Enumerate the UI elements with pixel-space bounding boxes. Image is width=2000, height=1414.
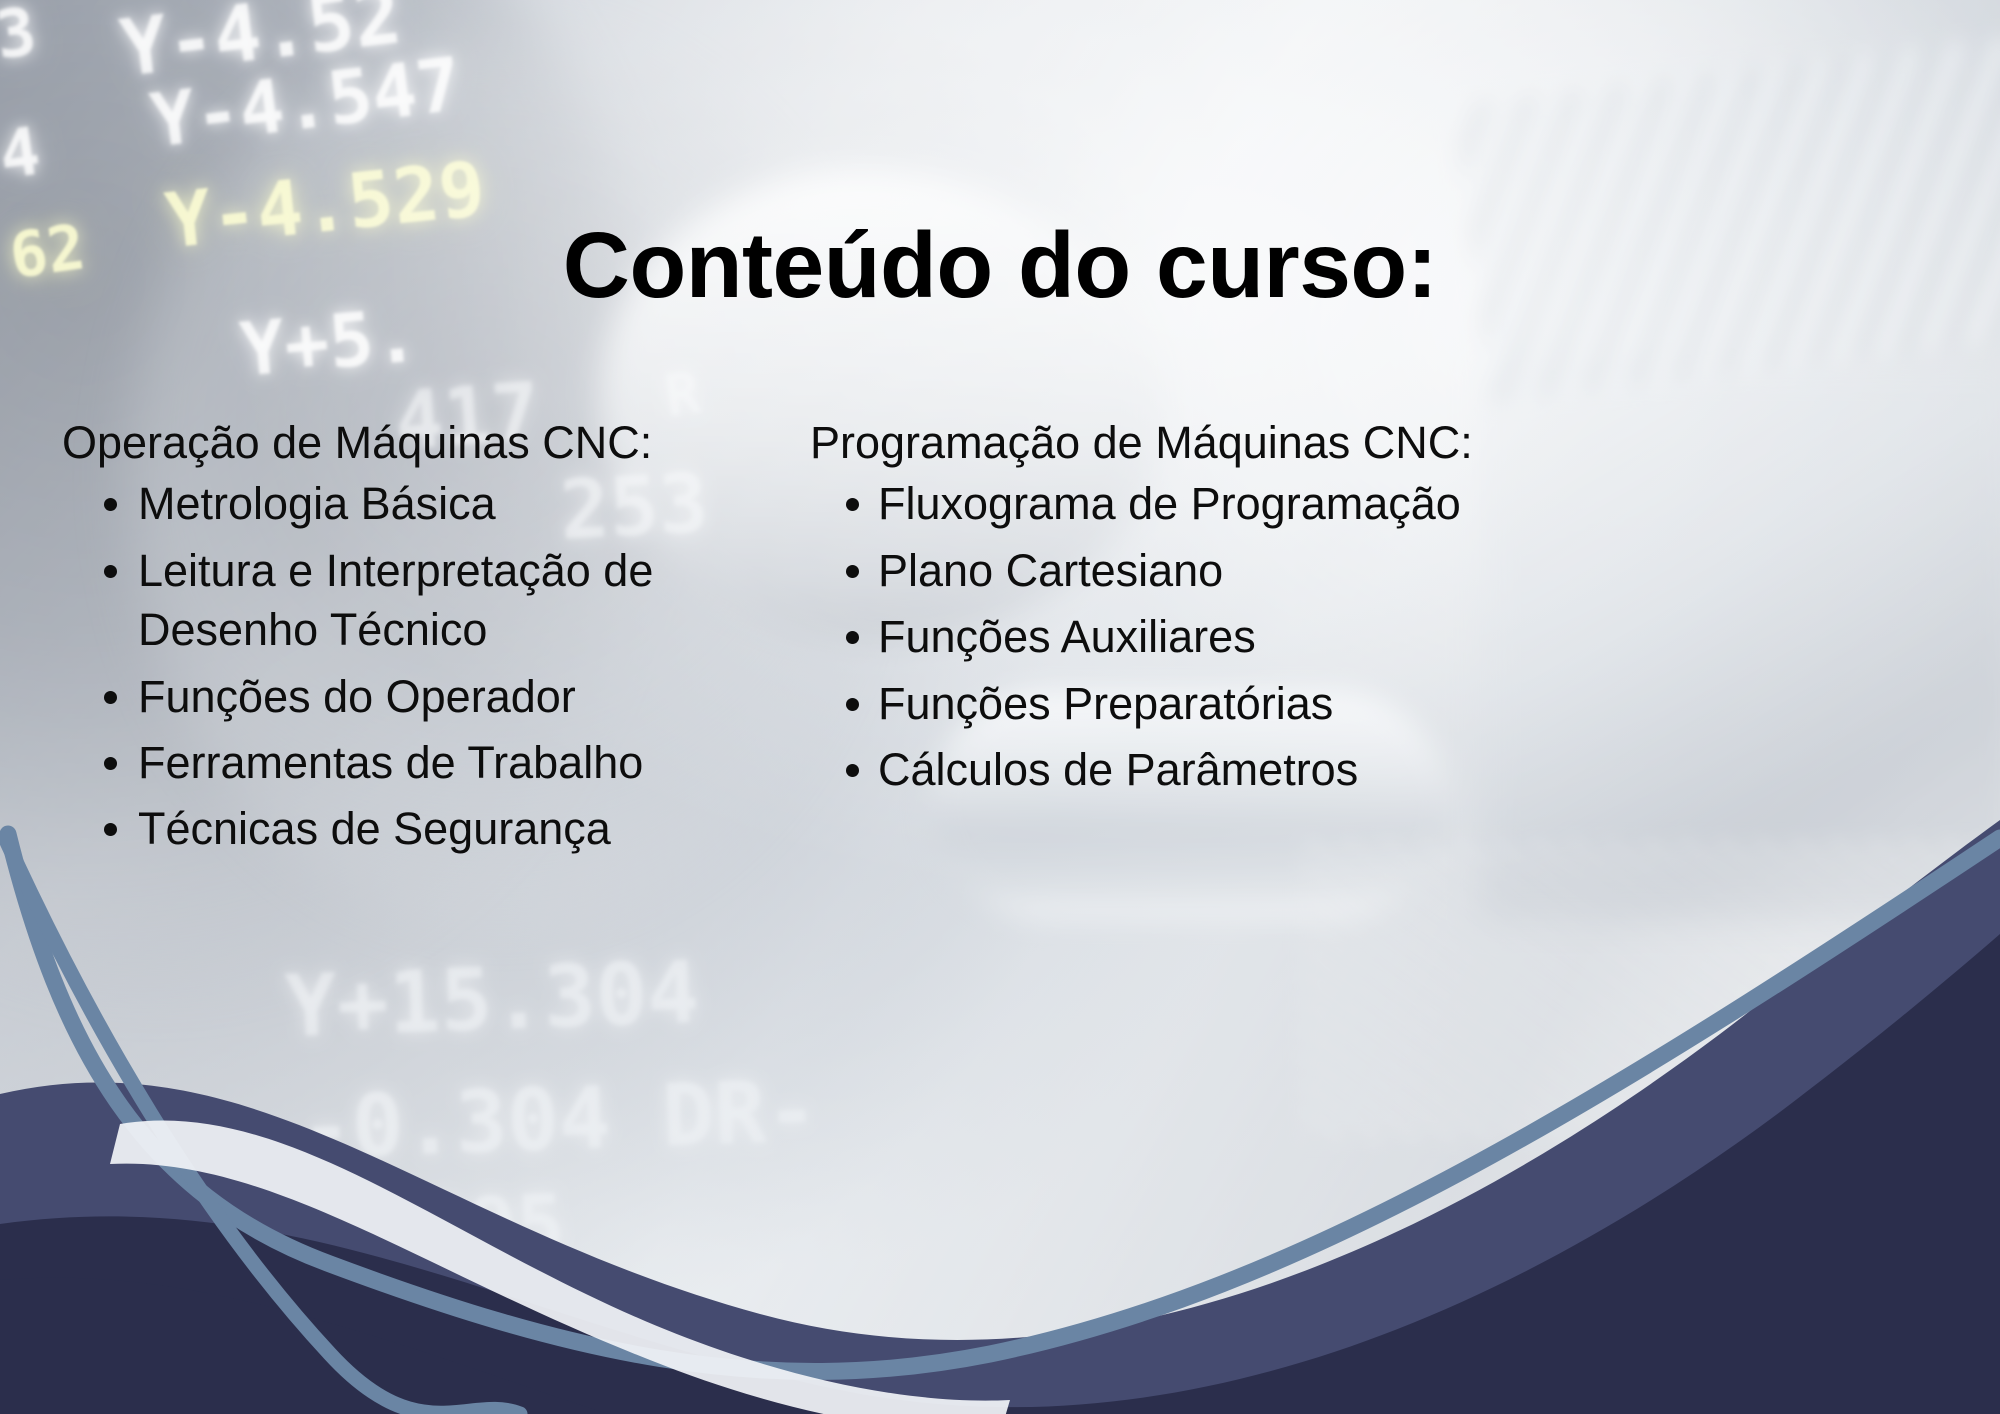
column-programming: Programação de Máquinas CNC: Fluxograma … bbox=[810, 418, 1570, 806]
list-item-label: Fluxograma de Programação bbox=[878, 478, 1461, 529]
list-item: Técnicas de Segurança bbox=[62, 799, 782, 858]
list-item: Cálculos de Parâmetros bbox=[810, 740, 1570, 799]
bullet-list-programming: Fluxograma de Programação Plano Cartesia… bbox=[810, 474, 1570, 799]
slide-canvas: Y-4.52 Y-4.547 Y-4.529 Y+5. 417 253 Y+15… bbox=[0, 0, 2000, 1414]
bullet-dot-icon bbox=[846, 698, 859, 711]
bullet-dot-icon bbox=[104, 498, 117, 511]
bullet-dot-icon bbox=[104, 823, 117, 836]
page-title: Conteúdo do curso: bbox=[0, 217, 2000, 315]
list-item-label: Metrologia Básica bbox=[138, 478, 496, 529]
list-item-label: Leitura e Interpretação de Desenho Técni… bbox=[138, 545, 653, 655]
list-item: Metrologia Básica bbox=[62, 474, 782, 533]
list-item: Funções Auxiliares bbox=[810, 607, 1570, 666]
list-item: Plano Cartesiano bbox=[810, 541, 1570, 600]
list-item-label: Cálculos de Parâmetros bbox=[878, 744, 1358, 795]
bullet-dot-icon bbox=[846, 764, 859, 777]
column-operation: Operação de Máquinas CNC: Metrologia Bás… bbox=[62, 418, 782, 866]
bullet-dot-icon bbox=[846, 498, 859, 511]
list-item: Funções do Operador bbox=[62, 667, 782, 726]
list-item-label: Funções Auxiliares bbox=[878, 611, 1256, 662]
bullet-dot-icon bbox=[104, 757, 117, 770]
bullet-list-operation: Metrologia Básica Leitura e Interpretaçã… bbox=[62, 474, 782, 858]
column-heading-operation: Operação de Máquinas CNC: bbox=[62, 418, 782, 468]
bullet-dot-icon bbox=[846, 631, 859, 644]
list-item: Funções Preparatórias bbox=[810, 674, 1570, 733]
column-heading-programming: Programação de Máquinas CNC: bbox=[810, 418, 1570, 468]
list-item: Fluxograma de Programação bbox=[810, 474, 1570, 533]
list-item: Ferramentas de Trabalho bbox=[62, 733, 782, 792]
list-item-label: Funções do Operador bbox=[138, 671, 576, 722]
list-item-label: Ferramentas de Trabalho bbox=[138, 737, 643, 788]
list-item: Leitura e Interpretação de Desenho Técni… bbox=[62, 541, 782, 660]
slide-content: Conteúdo do curso: Operação de Máquinas … bbox=[0, 0, 2000, 1414]
bullet-dot-icon bbox=[846, 565, 859, 578]
bullet-dot-icon bbox=[104, 691, 117, 704]
bullet-dot-icon bbox=[104, 565, 117, 578]
list-item-label: Plano Cartesiano bbox=[878, 545, 1223, 596]
list-item-label: Funções Preparatórias bbox=[878, 678, 1333, 729]
list-item-label: Técnicas de Segurança bbox=[138, 803, 611, 854]
